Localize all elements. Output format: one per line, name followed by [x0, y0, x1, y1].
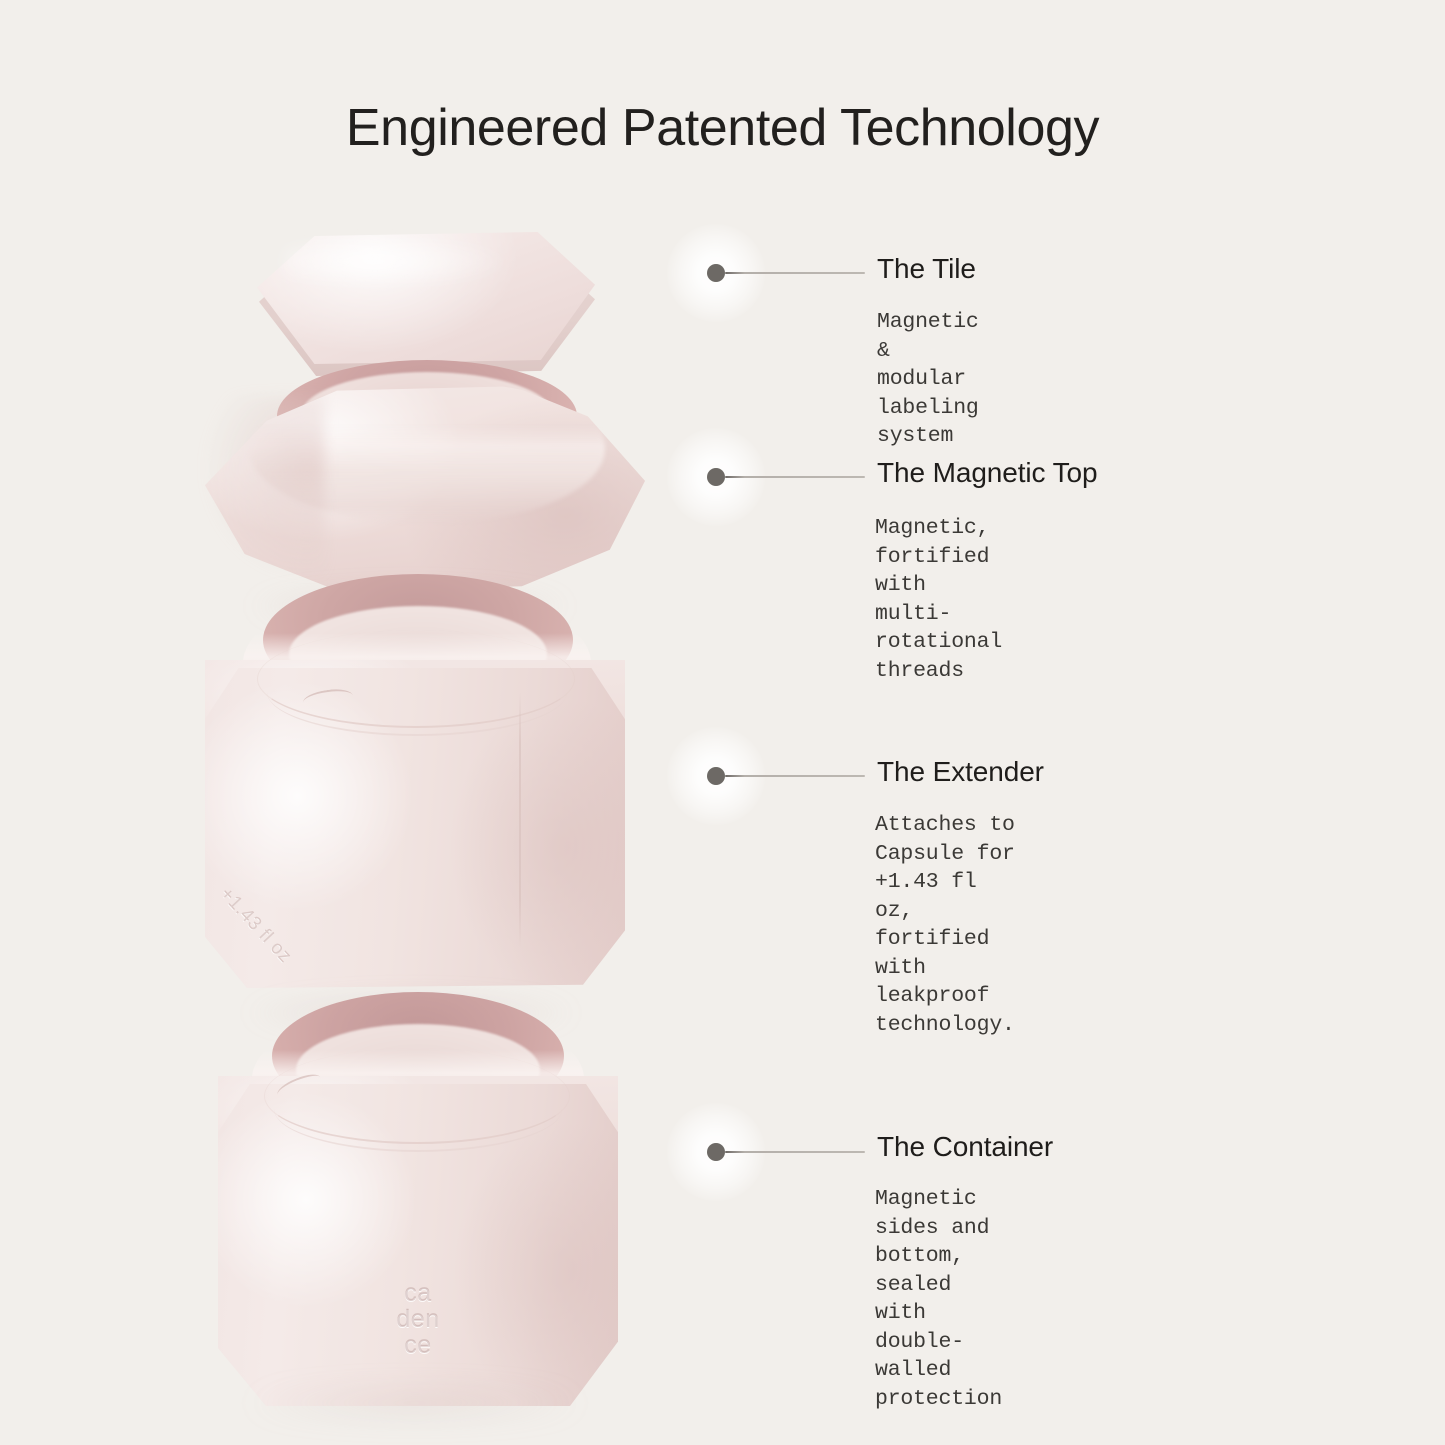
callout-leader-line [725, 272, 865, 274]
product-part-extender: +1.43 fl oz [205, 572, 625, 1012]
callout-leader-line [725, 1151, 865, 1153]
extender-thread-line [267, 648, 567, 736]
product-part-container: ca den ce [218, 990, 618, 1410]
product-exploded-view: +1.43 fl oz ca den ce [0, 0, 700, 1445]
callout-dot [707, 1143, 725, 1161]
extender-seam [519, 692, 521, 948]
callout-body: Magnetic, fortified with multi-rotationa… [875, 514, 1002, 685]
callout-dot [707, 468, 725, 486]
callout-body: Magnetic & modular labeling system [877, 308, 979, 451]
callout-dot [707, 767, 725, 785]
callout-body: Magnetic sides and bottom, sealed with d… [875, 1185, 1002, 1413]
tile-highlight [283, 240, 513, 288]
callout-heading: The Magnetic Top [877, 457, 1097, 489]
callout-leader-line [725, 775, 865, 777]
container-shadow [250, 1388, 580, 1418]
magnetic-top-shading [205, 396, 325, 576]
infographic-page: Engineered Patented Technology [0, 0, 1445, 1445]
cadence-brand-logo: ca den ce [218, 1280, 618, 1358]
callout-heading: The Tile [877, 253, 976, 285]
callout-dot [707, 264, 725, 282]
callout-leader-line [725, 476, 865, 478]
callout-heading: The Container [877, 1131, 1053, 1163]
callout-body: Attaches to Capsule for +1.43 fl oz, for… [875, 811, 1015, 1039]
callout-heading: The Extender [877, 756, 1044, 788]
